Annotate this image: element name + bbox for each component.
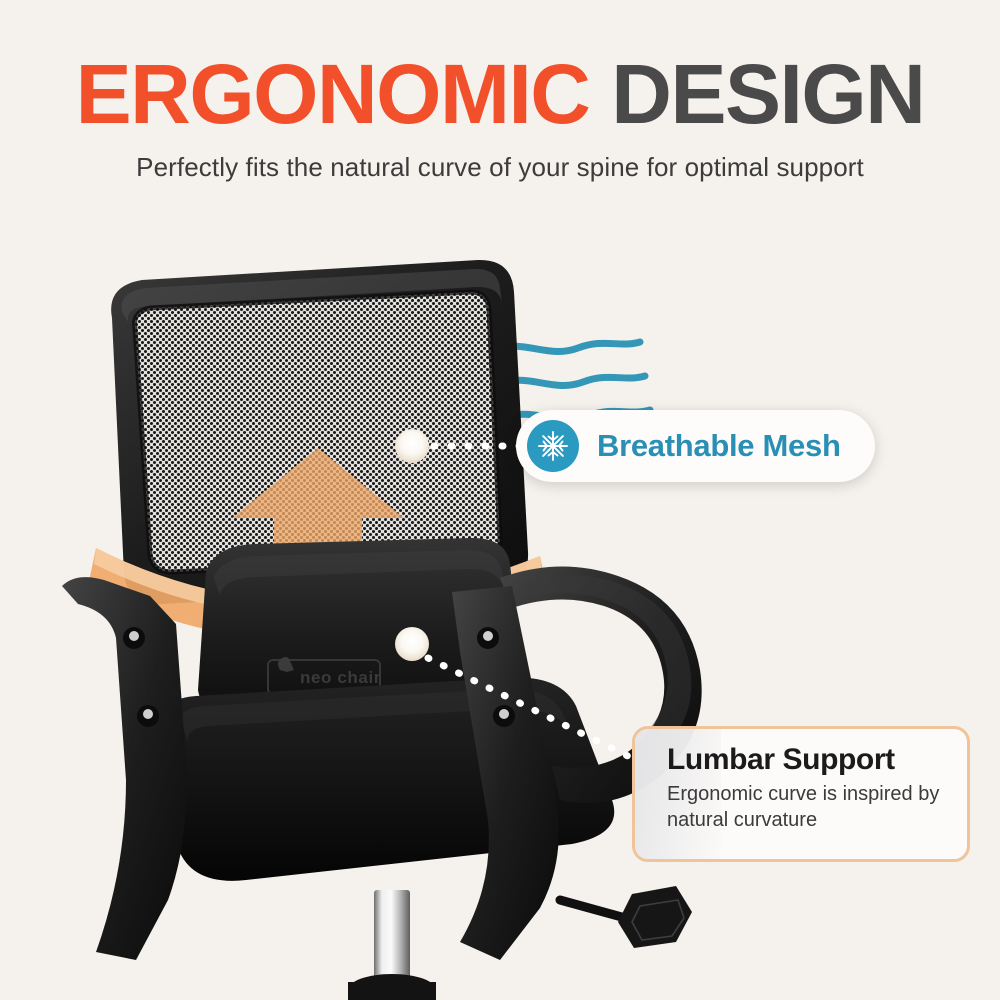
product-feature-banner: ERGONOMIC DESIGN Perfectly fits the natu… bbox=[0, 0, 1000, 1000]
callout-lumbar-support[interactable]: Lumbar Support Ergonomic curve is inspir… bbox=[632, 726, 970, 862]
page-title-rest: DESIGN bbox=[589, 47, 924, 141]
office-chair-image: neo chair bbox=[0, 200, 1000, 1000]
hotspot-dot-mesh bbox=[395, 429, 429, 463]
svg-text:neo chair: neo chair bbox=[300, 668, 381, 687]
snowflake-icon bbox=[527, 420, 579, 472]
callout-breathable-mesh-label: Breathable Mesh bbox=[597, 428, 841, 464]
callout-lumbar-support-description: Ergonomic curve is inspired by natural c… bbox=[667, 781, 949, 833]
page-subtitle: Perfectly fits the natural curve of your… bbox=[0, 152, 1000, 183]
page-title: ERGONOMIC DESIGN bbox=[0, 52, 1000, 136]
page-title-highlight: ERGONOMIC bbox=[76, 47, 590, 141]
callout-breathable-mesh[interactable]: Breathable Mesh bbox=[516, 410, 875, 482]
hotspot-dot-lumbar bbox=[395, 627, 429, 661]
callout-lumbar-support-title: Lumbar Support bbox=[667, 743, 949, 777]
